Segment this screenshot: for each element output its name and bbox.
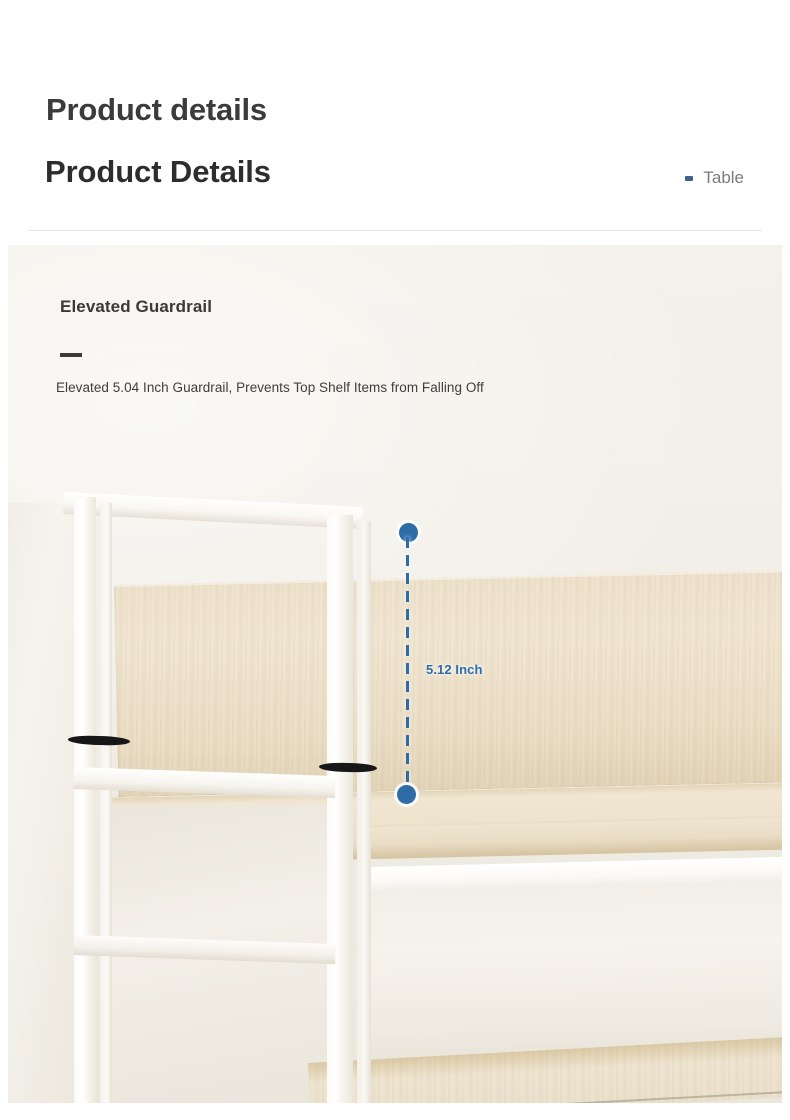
page-bottom-strip bbox=[0, 1103, 790, 1120]
wood-guardrail-board bbox=[114, 570, 782, 801]
caption-title: Elevated Guardrail bbox=[52, 295, 672, 319]
metal-post-left-rear bbox=[100, 503, 112, 1103]
section-tag-label: Table bbox=[703, 168, 744, 188]
square-dash-bullet-icon bbox=[685, 176, 693, 181]
caption-dash-divider bbox=[60, 353, 82, 357]
metal-post-mid-front bbox=[327, 515, 353, 1103]
metal-post-mid-rear bbox=[357, 521, 371, 1103]
header-divider bbox=[28, 230, 762, 231]
page-title-secondary: Product Details bbox=[45, 151, 271, 193]
product-details-page: Product details Product Details Table bbox=[0, 0, 790, 1120]
product-image-panel: 5.12 Inch Elevated Guardrail Elevated 5.… bbox=[8, 245, 782, 1103]
page-header: Product details Product Details Table bbox=[0, 0, 790, 245]
caption-description: Elevated 5.04 Inch Guardrail, Prevents T… bbox=[52, 378, 672, 398]
section-tag[interactable]: Table bbox=[685, 168, 744, 188]
page-title-primary: Product details bbox=[46, 90, 267, 130]
metal-post-left-front bbox=[74, 497, 96, 1103]
image-caption-block: Elevated Guardrail Elevated 5.04 Inch Gu… bbox=[52, 295, 672, 398]
